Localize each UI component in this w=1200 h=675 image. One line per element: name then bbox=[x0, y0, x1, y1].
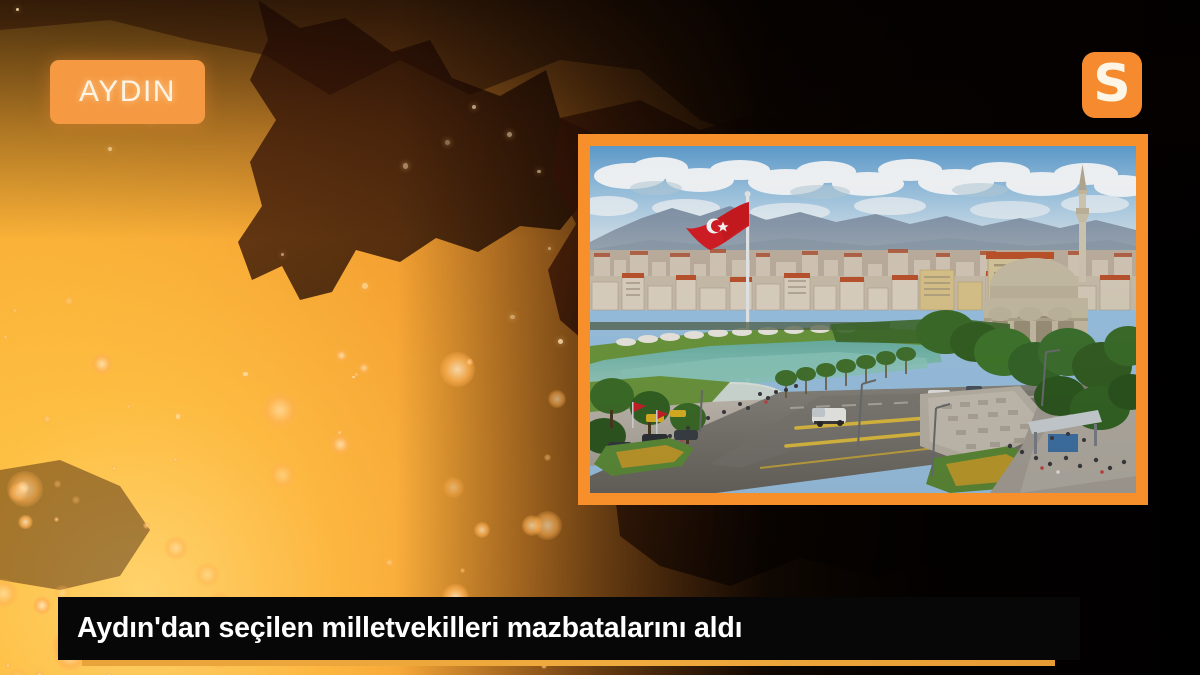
bokeh-dot bbox=[330, 434, 351, 455]
bokeh-sparkle bbox=[472, 105, 476, 109]
bokeh-dot bbox=[173, 457, 178, 462]
bokeh-dot bbox=[54, 480, 61, 487]
bokeh-dot bbox=[474, 522, 490, 538]
bokeh-dot bbox=[261, 391, 299, 429]
bokeh-dot bbox=[18, 515, 32, 529]
bokeh-sparkle bbox=[445, 140, 450, 145]
bokeh-dot bbox=[35, 671, 43, 675]
caption-bar: Aydın'dan seçilen milletvekilleri mazbat… bbox=[58, 597, 1080, 660]
bokeh-sparkle bbox=[548, 247, 551, 250]
bokeh-sparkle bbox=[510, 315, 514, 319]
bokeh-dot bbox=[91, 353, 113, 375]
bokeh-sparkle bbox=[176, 414, 181, 419]
bokeh-dot bbox=[0, 579, 18, 608]
bokeh-dot bbox=[5, 663, 10, 668]
headline-text: Aydın'dan seçilen milletvekilleri mazbat… bbox=[58, 612, 742, 645]
bokeh-dot bbox=[268, 461, 297, 490]
bokeh-sparkle bbox=[352, 376, 355, 379]
bokeh-dot bbox=[466, 358, 473, 365]
bokeh-dot bbox=[6, 668, 29, 675]
bokeh-sparkle bbox=[403, 163, 409, 169]
s-logo-letter: S bbox=[1093, 58, 1130, 110]
bokeh-dot bbox=[7, 471, 43, 507]
bokeh-dot bbox=[42, 414, 52, 424]
bokeh-dot bbox=[195, 562, 220, 587]
bokeh-dot bbox=[63, 295, 75, 307]
bokeh-dot bbox=[72, 496, 80, 504]
bokeh-dot bbox=[385, 558, 394, 567]
bokeh-dot bbox=[335, 349, 348, 362]
bokeh-sparkle bbox=[537, 170, 540, 173]
bokeh-dot bbox=[548, 390, 566, 408]
bokeh-dot bbox=[54, 517, 60, 523]
bokeh-dot bbox=[443, 477, 464, 498]
bokeh-dot bbox=[164, 536, 188, 560]
bokeh-sparkle bbox=[16, 8, 19, 11]
bokeh-dot bbox=[354, 372, 359, 377]
caption-underline bbox=[82, 660, 1055, 666]
s-logo-icon[interactable]: S bbox=[1082, 52, 1142, 118]
location-badge-label: AYDIN bbox=[79, 75, 176, 109]
thumbnail-canvas: AYDIN S bbox=[0, 0, 1200, 675]
bokeh-dot bbox=[12, 308, 17, 313]
bokeh-dot bbox=[111, 466, 117, 472]
bokeh-dot bbox=[126, 404, 131, 409]
bokeh-dot bbox=[522, 515, 542, 535]
bokeh-sparkle bbox=[558, 339, 564, 345]
bokeh-dot bbox=[33, 596, 52, 615]
location-badge[interactable]: AYDIN bbox=[50, 60, 205, 124]
bokeh-sparkle bbox=[362, 283, 368, 289]
bokeh-sparkle bbox=[243, 372, 248, 377]
bokeh-sparkle bbox=[108, 147, 112, 151]
bokeh-dot bbox=[3, 334, 8, 339]
bokeh-dot bbox=[460, 568, 465, 573]
bokeh-sparkle bbox=[281, 253, 284, 256]
bokeh-dot bbox=[544, 454, 551, 461]
bokeh-dot bbox=[358, 362, 371, 375]
photo-frame[interactable] bbox=[578, 134, 1148, 505]
bokeh-sparkle bbox=[507, 132, 512, 137]
bokeh-dot bbox=[143, 522, 150, 529]
city-photo bbox=[590, 146, 1136, 493]
